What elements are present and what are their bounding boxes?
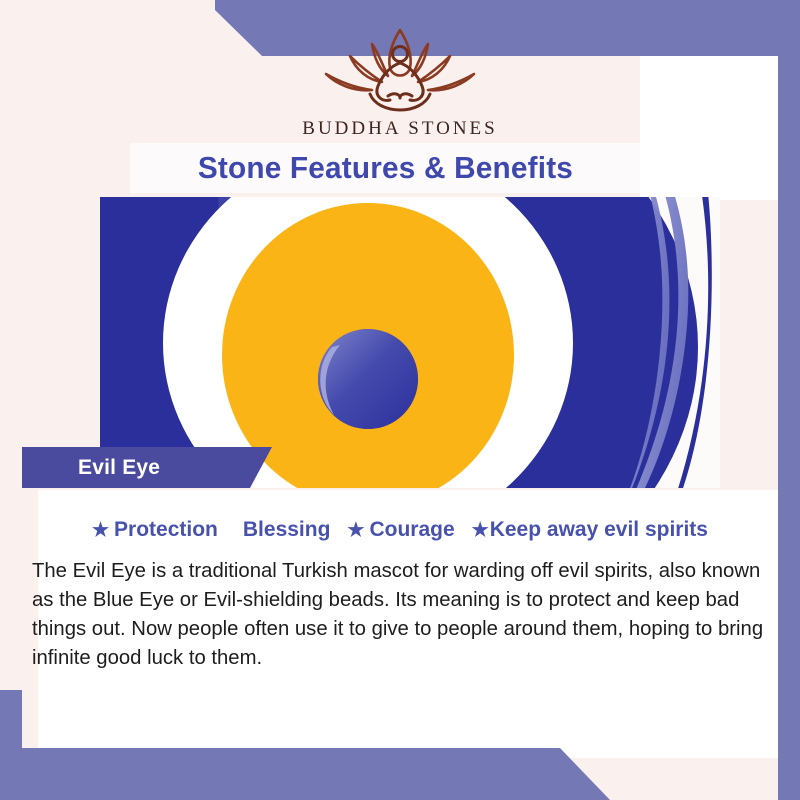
benefit-item-keep-away-evil-spirits: ★ Keep away evil spirits — [472, 518, 708, 542]
star-icon: ★ — [347, 521, 364, 540]
benefit-label: Protection — [114, 518, 218, 542]
brand-logo: BUDDHA STONES — [0, 22, 800, 140]
star-icon: ★ — [472, 521, 489, 540]
evil-eye-image — [100, 197, 720, 488]
lotus-meditation-icon — [0, 22, 800, 114]
benefit-item-protection: ★ Protection — [92, 518, 218, 542]
hero-ribbon: Evil Eye — [22, 447, 272, 488]
benefit-item-courage: ★ Courage — [347, 518, 454, 542]
decor-band-left-lower — [0, 690, 22, 752]
poster-root: BUDDHA STONES Stone Features & Benefits — [0, 0, 800, 800]
benefit-item-blessing: Blessing — [238, 518, 331, 542]
page-title: Stone Features & Benefits — [197, 150, 572, 186]
benefit-label: Courage — [369, 518, 454, 542]
section-title-banner: Stone Features & Benefits — [130, 143, 640, 193]
star-icon: ★ — [92, 521, 109, 540]
hero-ribbon-label: Evil Eye — [78, 456, 160, 480]
benefit-label: Keep away evil spirits — [490, 518, 708, 542]
brand-name: BUDDHA STONES — [0, 118, 800, 140]
benefits-row: ★ Protection Blessing ★ Courage ★ Keep a… — [0, 518, 800, 542]
benefit-label: Blessing — [243, 518, 331, 542]
description-text: The Evil Eye is a traditional Turkish ma… — [32, 556, 773, 672]
